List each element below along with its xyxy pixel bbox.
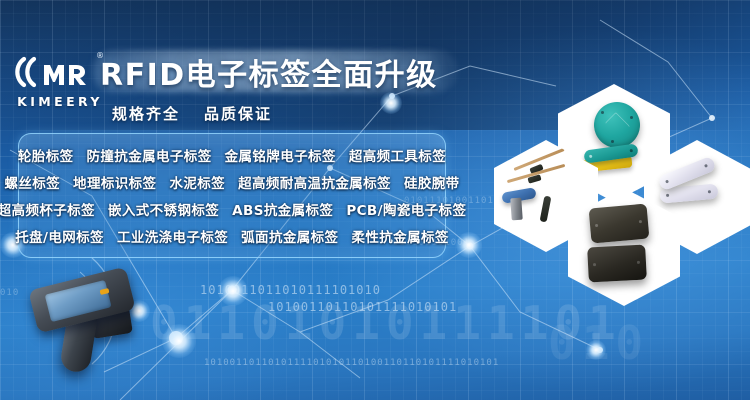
dark-stick-tag [540,196,552,223]
brand-wordmark: KIMEERY [14,94,106,109]
tag-item[interactable]: 弧面抗金属标签 [241,226,338,246]
page-title: RFID电子标签全面升级 [100,52,452,92]
brand-logo[interactable]: ® KIMEERY [14,52,106,114]
tag-item[interactable]: 托盘/电网标签 [15,226,104,246]
tag-item[interactable]: 防撞抗金属电子标签 [87,145,212,165]
subtitle: 规格齐全 品质保证 [112,103,272,124]
tag-list-panel: 轮胎标签 防撞抗金属电子标签 金属铭牌电子标签 超高频工具标签 螺丝标签 地理标… [18,133,446,258]
tag-item[interactable]: 硅胶腕带 [404,172,460,192]
tag-item[interactable]: 轮胎标签 [18,145,74,165]
abs-anti-metal-tag-1 [589,204,650,244]
handheld-rfid-reader[interactable] [22,262,162,390]
tag-item[interactable]: 工业洗涤电子标签 [117,226,228,246]
subtitle-right: 品质保证 [204,103,272,124]
tag-row-3: 超高频杯子标签 嵌入式不锈钢标签 ABS抗金属标签 PCB/陶瓷电子标签 [27,196,437,223]
tag-row-4: 托盘/电网标签 工业洗涤电子标签 弧面抗金属标签 柔性抗金属标签 [27,223,437,250]
screw-tag-shaft [510,198,523,221]
tag-item[interactable]: 螺丝标签 [4,172,60,192]
tag-item[interactable]: ABS抗金属标签 [232,199,333,219]
tag-item[interactable]: 超高频工具标签 [349,145,446,165]
tag-row-1: 轮胎标签 防撞抗金属电子标签 金属铭牌电子标签 超高频工具标签 [27,142,437,169]
tag-item[interactable]: 超高频耐高温抗金属标签 [238,172,391,192]
reader-screen [45,280,112,322]
tag-item[interactable]: 柔性抗金属标签 [351,226,448,246]
subtitle-left: 规格齐全 [112,103,180,124]
abs-anti-metal-tag-2 [587,245,647,283]
tag-row-2: 螺丝标签 地理标识标签 水泥标签 超高频耐高温抗金属标签 硅胶腕带 [27,169,437,196]
tag-item[interactable]: 金属铭牌电子标签 [225,145,336,165]
tag-item[interactable]: PCB/陶瓷电子标签 [346,199,466,219]
tag-item[interactable]: 嵌入式不锈钢标签 [108,199,219,219]
teal-disc-tag [594,102,640,148]
tag-item[interactable]: 地理标识标签 [73,172,156,192]
rfid-promo-banner: 01101010111101 1010011011010111101010 10… [0,0,750,400]
tag-item[interactable]: 超高频杯子标签 [0,199,95,219]
tag-item[interactable]: 水泥标签 [169,172,225,192]
